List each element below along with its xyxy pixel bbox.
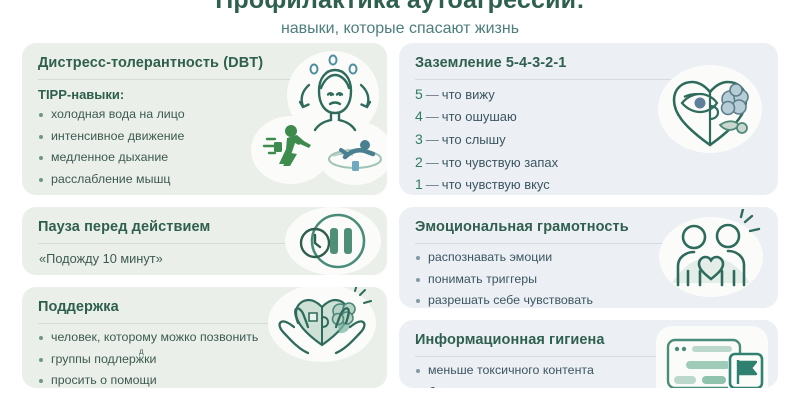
step-number: 4: [415, 108, 423, 124]
step-text: что вижу: [442, 87, 495, 102]
card-title: Поддержка: [38, 299, 371, 316]
stray-letter: д: [139, 347, 144, 356]
divider: [38, 323, 298, 324]
step-dash: —: [426, 87, 439, 102]
page-header: Профилактика аутоагрессии: навыки, котор…: [0, 0, 800, 38]
list-item: интенсивное движение: [38, 130, 371, 144]
card-information-hygiene[interactable]: Информационная гигиена меньше токсичного…: [399, 320, 778, 388]
divider: [415, 243, 686, 244]
page-subtitle: навыки, которые спасают жизнь: [0, 20, 800, 38]
card-emotional-literacy[interactable]: Эмоциональная грамотность распознавать э…: [399, 207, 778, 308]
list-item: 1—что чувствую вкус: [415, 177, 762, 193]
card-support[interactable]: Поддержка человек, которому можко позвон…: [22, 287, 387, 388]
card-title: Заземление 5-4-3-2-1: [415, 55, 762, 72]
info-items-list: меньше токсичного контента б: [415, 364, 762, 388]
list-item: 5—что вижу: [415, 87, 762, 103]
page-title: Профилактика аутоагрессии:: [0, 0, 800, 13]
card-title: Эмоциональная грамотность: [415, 219, 762, 236]
list-item: группы подлержки: [38, 353, 371, 367]
card-title: Дистресс-толерантность (DBT): [38, 55, 371, 72]
right-column: Заземление 5-4-3-2-1 5—что вижу 4—что ош…: [399, 43, 778, 388]
divider: [415, 356, 686, 357]
card-title: Пауза перед действием: [38, 219, 371, 236]
cards-grid: Дистресс-толерантность (DBT) TIPP-навыки…: [0, 43, 800, 388]
divider: [38, 243, 298, 244]
card-distress-tolerance[interactable]: Дистресс-толерантность (DBT) TIPP-навыки…: [22, 43, 387, 195]
step-text: что чувствую вкус: [442, 177, 550, 192]
step-dash: —: [426, 132, 439, 147]
step-number: 5: [415, 86, 423, 102]
list-item: расслабление мышц: [38, 173, 371, 187]
list-item: меньше токсичного контента: [415, 364, 762, 378]
emotion-items-list: распознавать эмоции понимать триггеры ра…: [415, 251, 762, 308]
left-column: Дистресс-толерантность (DBT) TIPP-навыки…: [22, 43, 387, 388]
card-title: Информационная гигиена: [415, 332, 762, 349]
list-item: разрешать себе чувствовать: [415, 294, 762, 308]
list-item: понимать триггеры: [415, 273, 762, 287]
step-number: 3: [415, 131, 423, 147]
divider: [38, 79, 298, 80]
step-text: что чувствую запах: [442, 155, 558, 170]
list-item: распознавать эмоции: [415, 251, 762, 265]
step-number: 1: [415, 176, 423, 192]
divider: [415, 79, 686, 80]
list-item: человек, которому можко позвонить: [38, 331, 371, 345]
list-item: холодная вода на лицо: [38, 108, 371, 122]
step-dash: —: [426, 109, 439, 124]
list-item: б: [415, 386, 762, 388]
list-item: 4—что ошушаю: [415, 109, 762, 125]
step-text: что слышу: [442, 132, 506, 147]
step-dash: —: [426, 155, 439, 170]
distress-items-list: холодная вода на лицо интенсивное движен…: [38, 108, 371, 188]
list-item: просить о помощи: [38, 374, 371, 388]
list-item: 2—что чувствую запах: [415, 155, 762, 171]
card-grounding-54321[interactable]: Заземление 5-4-3-2-1 5—что вижу 4—что ош…: [399, 43, 778, 195]
card-subheading: TIPP-навыки:: [38, 87, 371, 102]
grounding-steps-list: 5—что вижу 4—что ошушаю 3—что слышу 2—чт…: [415, 87, 762, 193]
pause-quote: «Подожду 10 минут»: [38, 251, 371, 266]
list-item: 3—что слышу: [415, 132, 762, 148]
step-dash: —: [426, 177, 439, 192]
support-items-list: человек, которому можко позвонить группы…: [38, 331, 371, 388]
card-pause-before-action[interactable]: Пауза перед действием «Подожду 10 минут»: [22, 207, 387, 275]
step-text: что ошушаю: [442, 109, 517, 124]
step-number: 2: [415, 154, 423, 170]
list-item: медленное дыхание: [38, 151, 371, 165]
